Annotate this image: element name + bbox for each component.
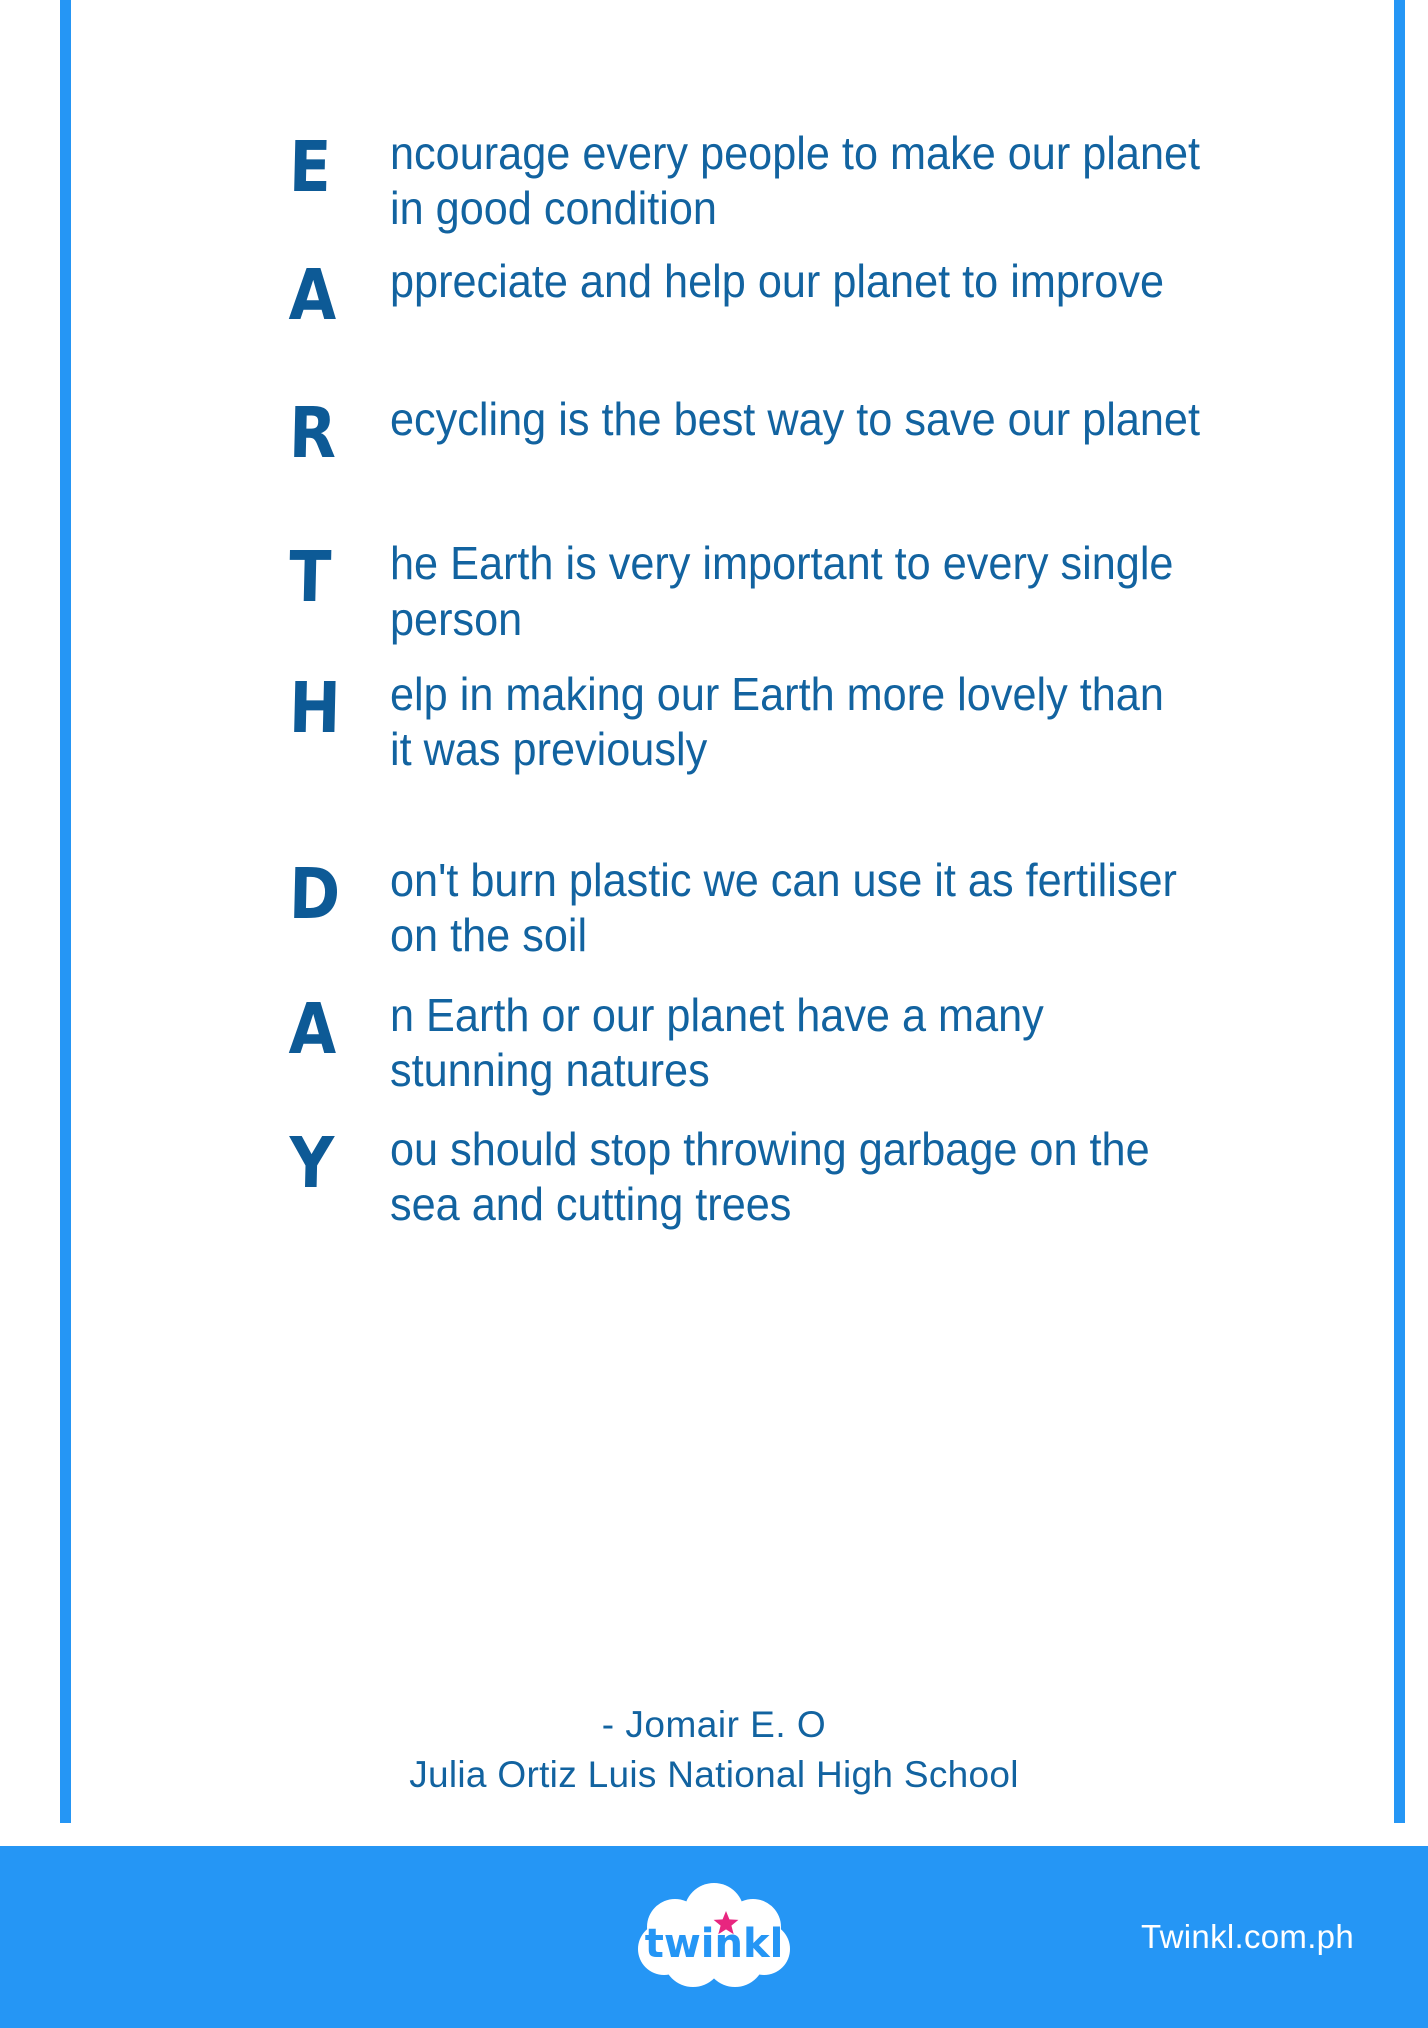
acrostic-poem-body: E ncourage every people to make our plan… [290, 126, 1360, 1232]
credit-school: Julia Ortiz Luis National High School [0, 1750, 1428, 1800]
poem-line-d: D on't burn plastic we can use it as fer… [290, 853, 1360, 963]
poem-line-text-r: ecycling is the best way to save our pla… [390, 392, 1302, 447]
poem-line-text-a1: ppreciate and help our planet to improve [390, 254, 1302, 309]
poem-line-text-e: ncourage every people to make our planet… [390, 126, 1302, 236]
acrostic-initial-a2: A [288, 988, 378, 1064]
twinkl-logo[interactable]: twinkl [631, 1883, 797, 1991]
poster-page: E ncourage every people to make our plan… [0, 0, 1428, 2028]
cloud-icon: twinkl [631, 1883, 797, 1991]
acrostic-initial-y: Y [288, 1122, 378, 1198]
poem-line-text-t: he Earth is very important to every sing… [390, 536, 1302, 646]
left-accent-rail [60, 0, 71, 1823]
twinkl-wordmark: twinkl [645, 1921, 784, 1967]
page-footer: twinkl Twinkl.com.ph [0, 1846, 1428, 2028]
poem-line-text-a2: n Earth or our planet have a many stunni… [390, 988, 1302, 1098]
poem-line-h: H elp in making our Earth more lovely th… [290, 667, 1360, 777]
right-accent-rail [1394, 0, 1405, 1823]
acrostic-initial-d: D [288, 853, 378, 929]
poem-line-y: Y ou should stop throwing garbage on the… [290, 1122, 1360, 1232]
acrostic-initial-e: E [288, 126, 378, 202]
acrostic-initial-r: R [288, 392, 378, 468]
poem-line-e: E ncourage every people to make our plan… [290, 126, 1360, 236]
acrostic-initial-h: H [288, 667, 378, 743]
poem-line-r: R ecycling is the best way to save our p… [290, 392, 1360, 468]
poem-line-a1: A ppreciate and help our planet to impro… [290, 254, 1360, 330]
poem-line-text-h: elp in making our Earth more lovely than… [390, 667, 1302, 777]
poem-line-text-d: on't burn plastic we can use it as ferti… [390, 853, 1302, 963]
acrostic-initial-a1: A [288, 254, 378, 330]
acrostic-initial-t: T [288, 536, 378, 612]
credit-block: - Jomair E. O Julia Ortiz Luis National … [0, 1700, 1428, 1800]
poem-line-a2: A n Earth or our planet have a many stun… [290, 988, 1360, 1098]
poem-line-text-y: ou should stop throwing garbage on the s… [390, 1122, 1302, 1232]
poem-line-t: T he Earth is very important to every si… [290, 536, 1360, 646]
credit-author: - Jomair E. O [0, 1700, 1428, 1750]
footer-url[interactable]: Twinkl.com.ph [1141, 1918, 1354, 1956]
